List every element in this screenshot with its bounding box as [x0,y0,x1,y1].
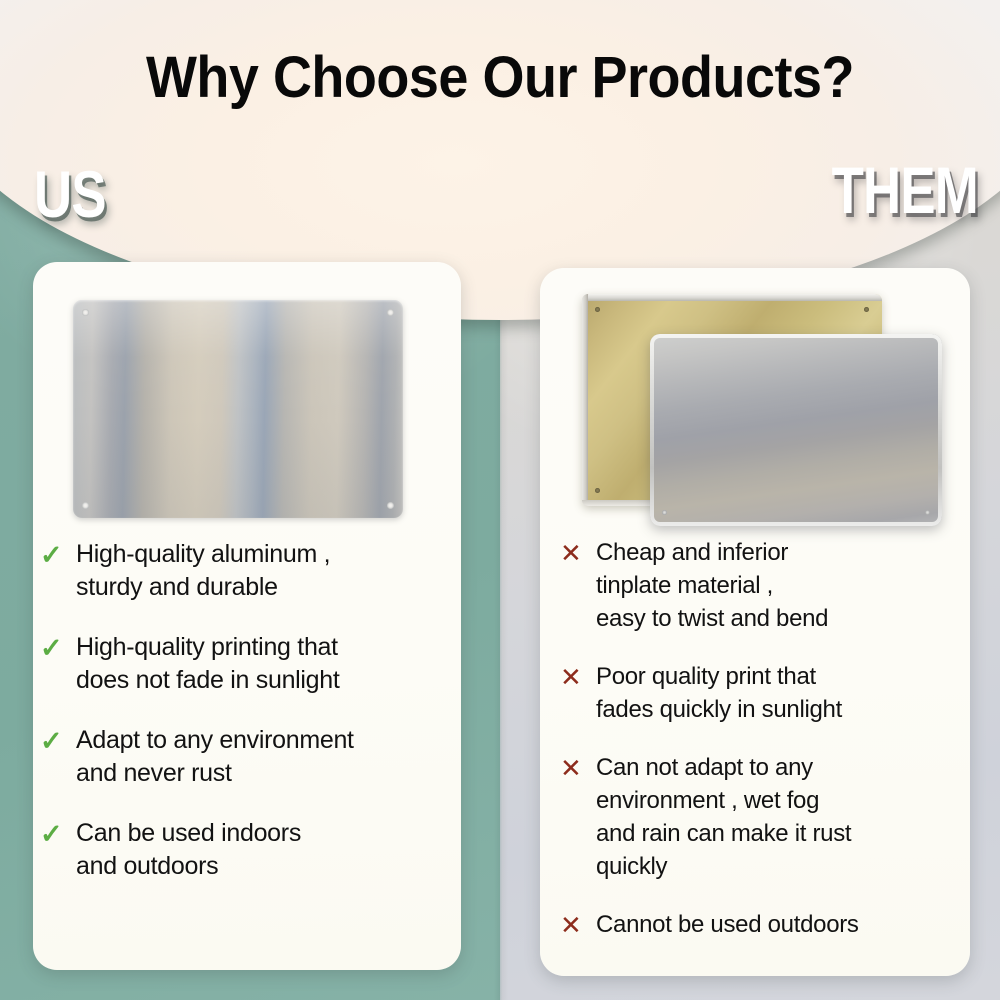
list-item: ✓ High-quality printing that does not fa… [40,631,460,697]
list-item: ✓ Can be used indoors and outdoors [40,817,460,883]
check-icon: ✓ [40,538,76,572]
cross-icon: ✕ [560,751,596,785]
list-item-label: Poor quality print that fades quickly in… [596,660,842,726]
list-item-label: Cannot be used outdoors [596,908,859,941]
cross-icon: ✕ [560,660,596,694]
cross-icon: ✕ [560,908,596,942]
them-product-image [540,268,970,536]
list-item-label: High-quality printing that does not fade… [76,631,340,697]
list-item: ✕ Can not adapt to any environment , wet… [560,751,970,883]
them-feature-list: ✕ Cheap and inferior tinplate material ,… [560,536,970,942]
mounting-hole-icon [864,307,869,312]
mounting-hole-icon [82,502,89,509]
list-item: ✕ Cheap and inferior tinplate material ,… [560,536,970,635]
mounting-hole-icon [925,510,930,515]
cross-icon: ✕ [560,536,596,570]
mounting-hole-icon [595,488,600,493]
mounting-hole-icon [82,309,89,316]
heading-them: THEM [832,152,978,228]
silver-tinplate-sign-graphic [650,334,942,526]
list-item: ✕ Cannot be used outdoors [560,908,970,942]
list-item-label: Can be used indoors and outdoors [76,817,301,883]
list-item-label: Cheap and inferior tinplate material , e… [596,536,828,635]
heading-us: US [34,156,106,232]
list-item-label: Can not adapt to any environment , wet f… [596,751,851,883]
page-title: Why Choose Our Products? [35,44,965,111]
sign-rim [582,294,588,506]
list-item-label: Adapt to any environment and never rust [76,724,354,790]
mounting-hole-icon [662,510,667,515]
aluminum-sign-graphic [73,300,403,518]
list-item: ✓ High-quality aluminum , sturdy and dur… [40,538,460,604]
list-item: ✓ Adapt to any environment and never rus… [40,724,460,790]
mounting-hole-icon [595,307,600,312]
us-product-image [33,262,461,534]
sign-rim [650,334,942,526]
check-icon: ✓ [40,817,76,851]
check-icon: ✓ [40,631,76,665]
mounting-hole-icon [387,309,394,316]
check-icon: ✓ [40,724,76,758]
us-feature-list: ✓ High-quality aluminum , sturdy and dur… [40,538,460,883]
list-item-label: High-quality aluminum , sturdy and durab… [76,538,330,604]
list-item: ✕ Poor quality print that fades quickly … [560,660,970,726]
mounting-hole-icon [387,502,394,509]
comparison-poster: Why Choose Our Products? US THEM [0,0,1000,1000]
sign-rim [582,294,882,301]
